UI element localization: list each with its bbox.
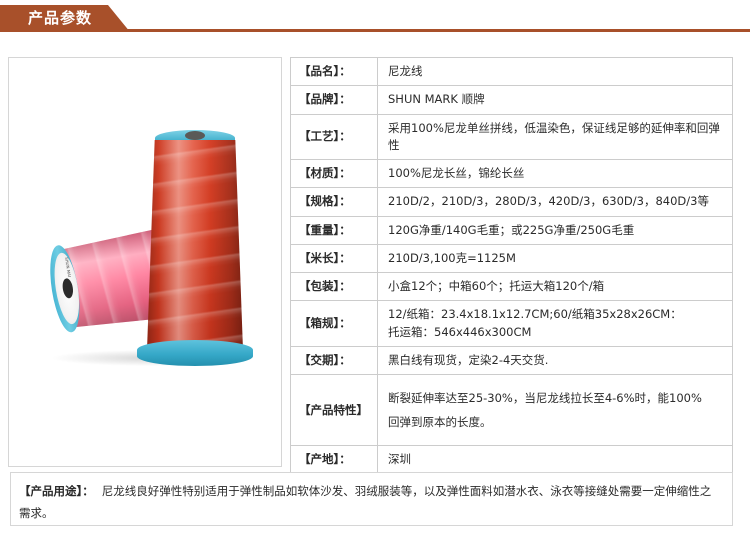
spec-key: 【材质】： [291, 160, 378, 188]
table-row: 【品牌】： SHUN MARK 顺牌 [291, 86, 733, 114]
product-usage-text: 尼龙线良好弹性特别适用于弹性制品如软体沙发、羽绒服装等，以及弹性面料如潜水衣、泳… [19, 484, 711, 520]
table-row: 【品名】： 尼龙线 [291, 58, 733, 86]
spec-key: 【米长】： [291, 244, 378, 272]
spec-value: 黑白线有现货，定染2-4天交货. [378, 346, 733, 374]
spec-value: 100%尼龙长丝，锦纶长丝 [378, 160, 733, 188]
red-cone-base [137, 340, 253, 366]
product-usage-key: 【产品用途】： [19, 484, 94, 498]
table-row: 【箱规】： 12/纸箱：23.4x18.1x12.7CM;60/纸箱35x28x… [291, 301, 733, 347]
pink-cone-label-text: SHUN MARK [55, 257, 72, 279]
thread-cone-illustration: SHUN MARK [9, 58, 281, 466]
table-row: 【重量】： 120G净重/140G毛重；或225G净重/250G毛重 [291, 216, 733, 244]
red-cone-center-hole [185, 131, 205, 140]
spec-table-body: 【品名】： 尼龙线 【品牌】： SHUN MARK 顺牌 【工艺】： 采用100… [291, 58, 733, 475]
spec-key: 【产品特性】 [291, 375, 378, 446]
spec-key: 【工艺】： [291, 114, 378, 160]
table-row: 【产品特性】 断裂延伸率达至25-30%，当尼龙线拉长至4-6%时，能100% … [291, 375, 733, 446]
spec-key: 【包装】： [291, 273, 378, 301]
page-header: 产品参数 [0, 0, 750, 36]
product-usage-inner: 【产品用途】：尼龙线良好弹性特别适用于弹性制品如软体沙发、羽绒服装等，以及弹性面… [19, 480, 719, 525]
table-row: 【产地】： 深圳 [291, 446, 733, 474]
spec-value: 210D/2，210D/3，280D/3，420D/3，630D/3，840D/… [378, 188, 733, 216]
spec-value: 120G净重/140G毛重；或225G净重/250G毛重 [378, 216, 733, 244]
spec-value: SHUN MARK 顺牌 [378, 86, 733, 114]
table-row: 【材质】： 100%尼龙长丝，锦纶长丝 [291, 160, 733, 188]
spec-value: 深圳 [378, 446, 733, 474]
red-cone-thread-wraps [147, 140, 243, 350]
spec-value: 12/纸箱：23.4x18.1x12.7CM;60/纸箱35x28x26CM： … [378, 301, 733, 347]
spec-value: 采用100%尼龙单丝拼线，低温染色，保证线足够的延伸率和回弹性 [378, 114, 733, 160]
spec-key: 【品牌】： [291, 86, 378, 114]
spec-key: 【交期】： [291, 346, 378, 374]
product-spec-table: 【品名】： 尼龙线 【品牌】： SHUN MARK 顺牌 【工艺】： 采用100… [290, 57, 733, 475]
spec-key: 【品名】： [291, 58, 378, 86]
table-row: 【交期】： 黑白线有现货，定染2-4天交货. [291, 346, 733, 374]
table-row: 【规格】： 210D/2，210D/3，280D/3，420D/3，630D/3… [291, 188, 733, 216]
table-row: 【米长】： 210D/3,100克=1125M [291, 244, 733, 272]
header-title: 产品参数 [28, 5, 92, 32]
table-row: 【工艺】： 采用100%尼龙单丝拼线，低温染色，保证线足够的延伸率和回弹性 [291, 114, 733, 160]
spec-key: 【箱规】： [291, 301, 378, 347]
spec-key: 【重量】： [291, 216, 378, 244]
spec-key: 【产地】： [291, 446, 378, 474]
spec-value: 小盒12个；中箱60个；托运大箱120个/箱 [378, 273, 733, 301]
spec-value: 尼龙线 [378, 58, 733, 86]
product-image-panel: SHUN MARK [8, 57, 282, 467]
spec-key: 【规格】： [291, 188, 378, 216]
product-usage-box: 【产品用途】：尼龙线良好弹性特别适用于弹性制品如软体沙发、羽绒服装等，以及弹性面… [10, 472, 733, 526]
table-row: 【包装】： 小盒12个；中箱60个；托运大箱120个/箱 [291, 273, 733, 301]
spec-value: 210D/3,100克=1125M [378, 244, 733, 272]
spec-value: 断裂延伸率达至25-30%，当尼龙线拉长至4-6%时，能100% 回弹到原本的长… [378, 375, 733, 446]
